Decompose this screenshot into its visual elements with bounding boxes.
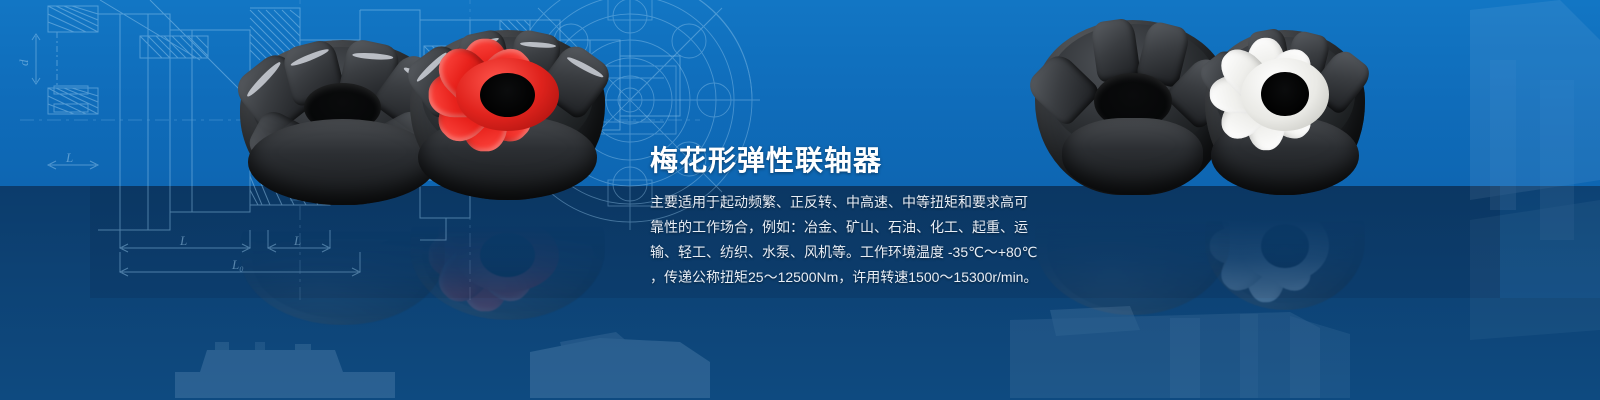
blueprint-label-L-small: L bbox=[65, 150, 73, 165]
blueprint-label-d: d bbox=[16, 59, 31, 66]
coupling-hub-black-right bbox=[1035, 20, 1230, 195]
description-line: 输、轻工、纺织、水泵、风机等。工作环境温度 -35℃～+80℃ bbox=[650, 240, 1050, 265]
page-title: 梅花形弹性联轴器 bbox=[650, 139, 882, 179]
spider-insert-white bbox=[1211, 33, 1358, 155]
blueprint-label-L0: L₀ bbox=[231, 257, 244, 272]
blueprint-label-L1: L bbox=[179, 233, 187, 248]
coupling-hub-red-spider bbox=[410, 30, 605, 200]
description-line: 主要适用于起动频繁、正反转、中高速、中等扭矩和要求高可 bbox=[650, 190, 1050, 215]
hub-rim bbox=[248, 119, 437, 205]
coupling-hub-white-spider bbox=[1205, 30, 1365, 195]
spider-center-bore bbox=[480, 73, 535, 117]
hub-rim bbox=[1062, 118, 1202, 195]
background-band-strip-right bbox=[1500, 186, 1600, 298]
description-line: ，传递公称扭矩25～12500Nm，许用转速1500～15300r/min。 bbox=[650, 265, 1050, 290]
product-description: 主要适用于起动频繁、正反转、中高速、中等扭矩和要求高可 靠性的工作场合，例如：冶… bbox=[650, 190, 1050, 290]
blueprint-label-L2: L bbox=[293, 233, 301, 248]
spider-insert-red bbox=[422, 33, 594, 155]
product-banner: d D D L L L L₀ bbox=[0, 0, 1600, 400]
description-line: 靠性的工作场合，例如：冶金、矿山、石油、化工、起重、运 bbox=[650, 215, 1050, 240]
spider-center-bore bbox=[1261, 72, 1308, 116]
